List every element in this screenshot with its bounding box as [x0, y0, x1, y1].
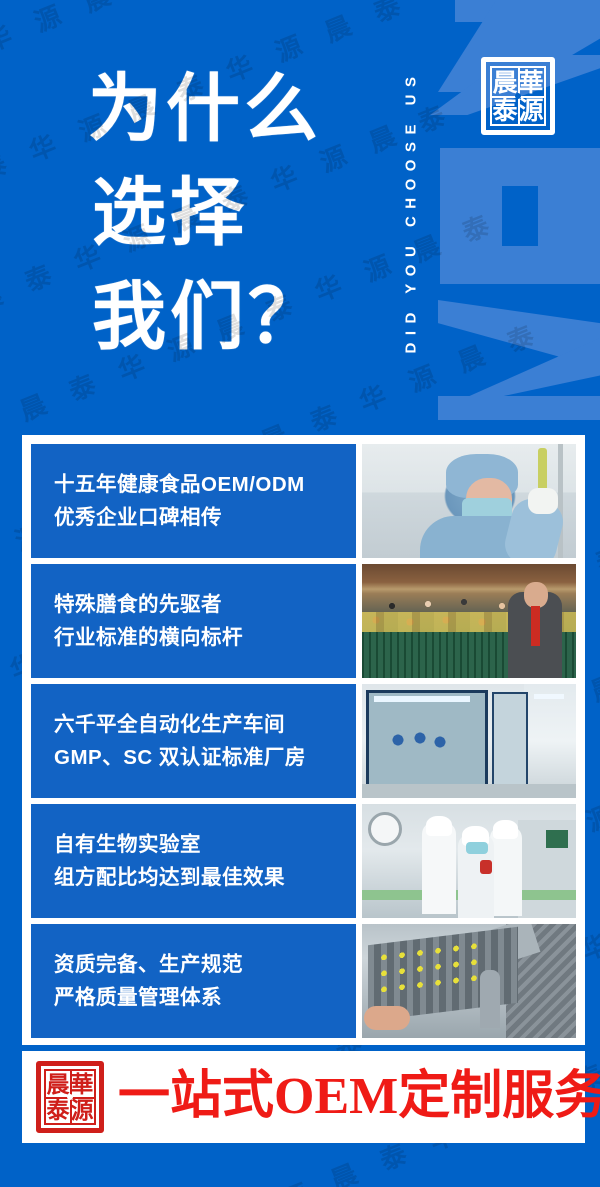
footer-slogan-band: 晨 華 泰 源 一站式OEM定制服务 [22, 1051, 585, 1143]
feature-line-4b: 组方配比均达到最佳效果 [54, 861, 356, 894]
list-item[interactable]: 资质完备、生产规范 严格质量管理体系 [31, 924, 576, 1038]
poster-root: 为什么 选择 我们？ DID YOU CHOOSE US 晨 華 泰 源 十五年… [0, 0, 600, 1187]
deco-shape-h-leg-right [538, 186, 600, 246]
feature-text-1: 十五年健康食品OEM/ODM 优秀企业口碑相传 [31, 444, 356, 558]
brand-seal-logo-bottom: 晨 華 泰 源 [36, 1061, 104, 1133]
deco-shape-h-top [440, 148, 600, 186]
feature-line-5b: 严格质量管理体系 [54, 981, 356, 1014]
feature-line-3a: 六千平全自动化生产车间 [54, 708, 356, 741]
feature-photo-5 [362, 924, 577, 1038]
feature-line-2b: 行业标准的横向标杆 [54, 621, 356, 654]
feature-photo-3 [362, 684, 577, 798]
deco-shape-h-bottom [440, 246, 600, 284]
feature-card-panel: 十五年健康食品OEM/ODM 优秀企业口碑相传 特殊膳食的先驱者 行业标准的横向… [22, 435, 585, 1045]
seal-bottom-char-top-right: 華 [70, 1071, 94, 1097]
deco-shape-y-stem [438, 396, 600, 420]
seal-bottom-center-dot [67, 1094, 73, 1100]
feature-line-4a: 自有生物实验室 [54, 828, 356, 861]
list-item[interactable]: 十五年健康食品OEM/ODM 优秀企业口碑相传 [31, 444, 576, 558]
page-title-line-2: 选择 [92, 162, 326, 266]
seal-char-top-right: 華 [518, 68, 544, 96]
page-title: 为什么 选择 我们？ [88, 58, 326, 370]
seal-center-dot [515, 93, 521, 99]
vertical-english-text: DID YOU CHOOSE US [403, 69, 420, 353]
seal-char-bottom-left: 泰 [492, 96, 518, 124]
feature-text-3: 六千平全自动化生产车间 GMP、SC 双认证标准厂房 [31, 684, 356, 798]
page-title-line-1: 为什么 [88, 58, 326, 162]
vertical-english-caption: DID YOU CHOOSE US [396, 18, 426, 404]
page-title-line-3: 我们？ [92, 266, 326, 370]
feature-line-3b: GMP、SC 双认证标准厂房 [54, 741, 356, 774]
list-item[interactable]: 特殊膳食的先驱者 行业标准的横向标杆 [31, 564, 576, 678]
feature-line-2a: 特殊膳食的先驱者 [54, 588, 356, 621]
list-item[interactable]: 六千平全自动化生产车间 GMP、SC 双认证标准厂房 [31, 684, 576, 798]
seal-bottom-char-top-left: 晨 [46, 1071, 70, 1097]
feature-text-5: 资质完备、生产规范 严格质量管理体系 [31, 924, 356, 1038]
brand-seal-logo-top: 晨 華 泰 源 [481, 57, 555, 135]
seal-bottom-char-bottom-right: 源 [70, 1097, 94, 1123]
feature-line-1a: 十五年健康食品OEM/ODM [54, 468, 356, 501]
feature-photo-2 [362, 564, 577, 678]
seal-char-bottom-right: 源 [518, 96, 544, 124]
feature-photo-1 [362, 444, 577, 558]
footer-slogan-text: 一站式OEM定制服务 [118, 1071, 600, 1123]
feature-text-4: 自有生物实验室 组方配比均达到最佳效果 [31, 804, 356, 918]
feature-text-2: 特殊膳食的先驱者 行业标准的横向标杆 [31, 564, 356, 678]
feature-line-1b: 优秀企业口碑相传 [54, 501, 356, 534]
seal-bottom-char-bottom-left: 泰 [46, 1097, 70, 1123]
feature-line-5a: 资质完备、生产规范 [54, 948, 356, 981]
feature-photo-4 [362, 804, 577, 918]
seal-char-top-left: 晨 [492, 68, 518, 96]
deco-shape-h-leg-left [440, 186, 502, 246]
list-item[interactable]: 自有生物实验室 组方配比均达到最佳效果 [31, 804, 576, 918]
